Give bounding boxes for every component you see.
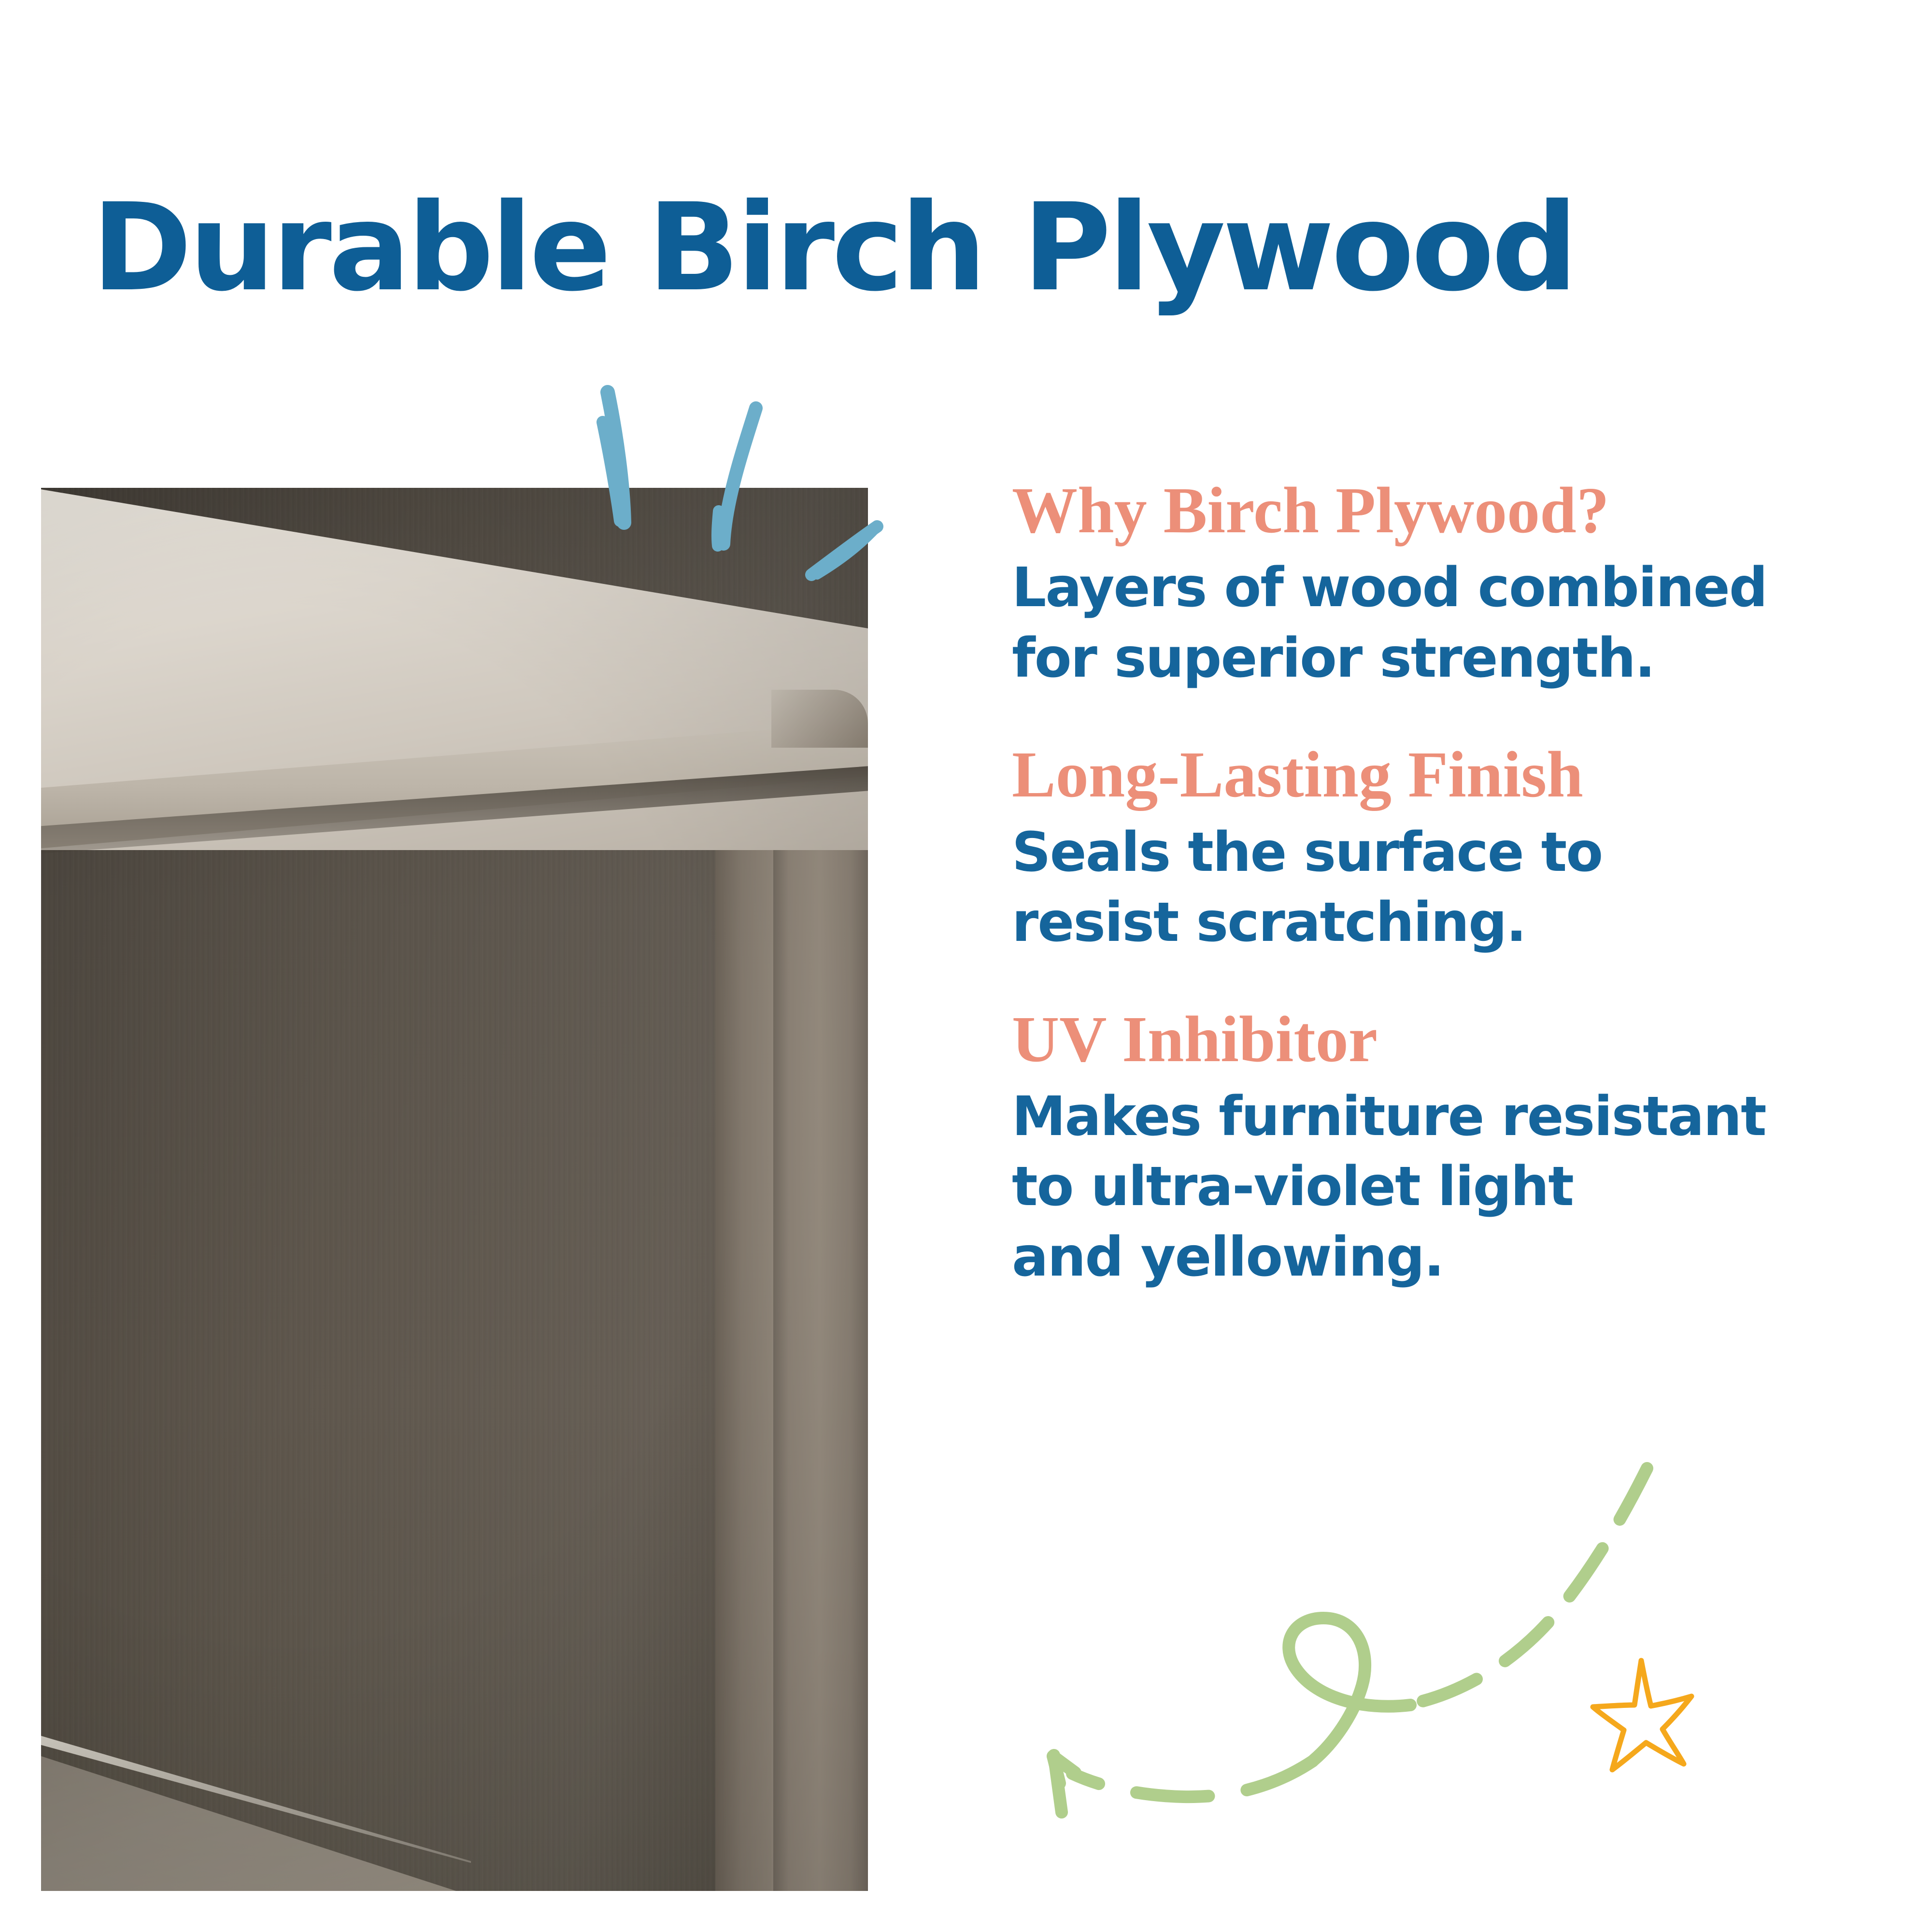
infographic-canvas: Durable Birch Plywood [0, 0, 1932, 1932]
feature-heading: Long-Lasting Finish [1012, 740, 1862, 810]
star-outline-icon [1589, 1652, 1705, 1773]
feature-body-line: Makes furniture resistant [1012, 1082, 1862, 1152]
feature-body: Layers of wood combined for superior str… [1012, 553, 1862, 694]
feature-heading: UV Inhibitor [1012, 1005, 1862, 1074]
feature-item: UV Inhibitor Makes furniture resistant t… [1012, 1005, 1862, 1293]
feature-item: Why Birch Plywood? Layers of wood combin… [1012, 476, 1862, 694]
feature-body: Seals the surface to resist scratching. [1012, 818, 1862, 958]
feature-body-line: resist scratching. [1012, 888, 1862, 958]
feature-body-line: to ultra-violet light [1012, 1152, 1862, 1222]
feature-body-line: for superior strength. [1012, 624, 1862, 694]
feature-body-line: and yellowing. [1012, 1222, 1862, 1293]
product-photo [41, 488, 868, 1891]
page-title: Durable Birch Plywood [92, 185, 1879, 311]
feature-list: Why Birch Plywood? Layers of wood combin… [1012, 476, 1862, 1293]
feature-body-line: Layers of wood combined [1012, 553, 1862, 624]
feature-heading: Why Birch Plywood? [1012, 476, 1862, 545]
sparkle-lines-icon [570, 382, 918, 589]
feature-body-line: Seals the surface to [1012, 818, 1862, 888]
feature-body: Makes furniture resistant to ultra-viole… [1012, 1082, 1862, 1293]
feature-item: Long-Lasting Finish Seals the surface to… [1012, 740, 1862, 958]
photo-vignette [41, 488, 868, 1891]
